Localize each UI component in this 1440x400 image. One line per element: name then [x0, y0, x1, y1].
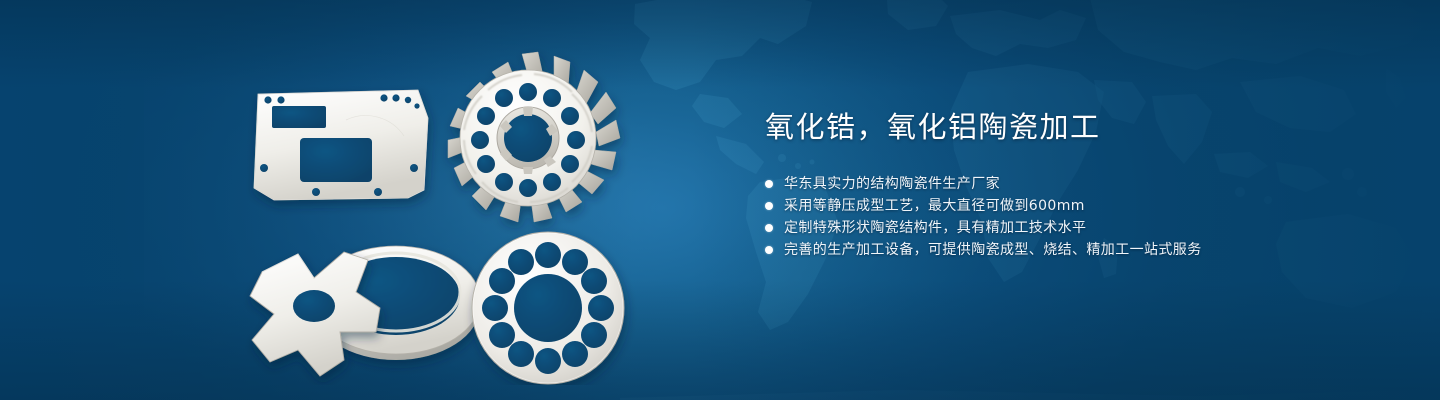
- bullet-dot-icon: [765, 180, 773, 188]
- feature-text: 定制特殊形状陶瓷结构件，具有精加工技术水平: [784, 217, 1086, 239]
- ceramic-impeller-part: [448, 52, 620, 222]
- list-item: 完善的生产加工设备，可提供陶瓷成型、烧结、精加工一站式服务: [765, 239, 1385, 261]
- feature-text: 采用等静压成型工艺，最大直径可做到600mm: [784, 195, 1085, 217]
- feature-list: 华东具实力的结构陶瓷件生产厂家 采用等静压成型工艺，最大直径可做到600mm 定…: [765, 173, 1385, 261]
- bullet-dot-icon: [765, 224, 773, 232]
- bullet-dot-icon: [765, 246, 773, 254]
- ceramic-plate-part: [254, 90, 428, 200]
- list-item: 采用等静压成型工艺，最大直径可做到600mm: [765, 195, 1385, 217]
- list-item: 华东具实力的结构陶瓷件生产厂家: [765, 173, 1385, 195]
- banner-copy: 氧化锆，氧化铝陶瓷加工 华东具实力的结构陶瓷件生产厂家 采用等静压成型工艺，最大…: [765, 108, 1385, 261]
- ceramic-cross-part: [250, 252, 380, 376]
- ceramic-perforated-disc-part: [472, 232, 624, 384]
- banner-headline: 氧化锆，氧化铝陶瓷加工: [765, 108, 1385, 146]
- ceramic-products-image: [228, 40, 728, 385]
- bullet-dot-icon: [765, 202, 773, 210]
- feature-text: 完善的生产加工设备，可提供陶瓷成型、烧结、精加工一站式服务: [784, 239, 1202, 261]
- promo-banner: 氧化锆，氧化铝陶瓷加工 华东具实力的结构陶瓷件生产厂家 采用等静压成型工艺，最大…: [0, 0, 1440, 400]
- feature-text: 华东具实力的结构陶瓷件生产厂家: [784, 173, 1000, 195]
- list-item: 定制特殊形状陶瓷结构件，具有精加工技术水平: [765, 217, 1385, 239]
